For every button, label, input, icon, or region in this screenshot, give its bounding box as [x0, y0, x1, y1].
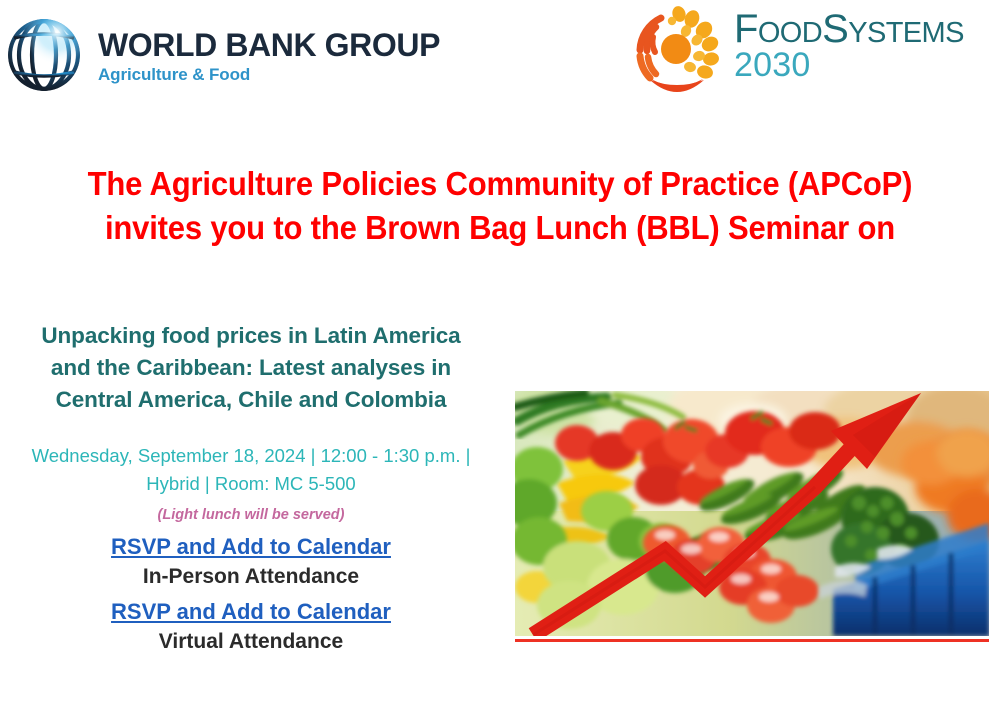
globe-icon — [4, 10, 88, 98]
food-systems-name: FOODSYSTEMS — [734, 7, 964, 51]
world-bank-subtitle: Agriculture & Food — [98, 66, 440, 83]
food-systems-wordmark: FOODSYSTEMS 2030 — [734, 4, 1000, 82]
headline: The Agriculture Policies Community of Pr… — [30, 162, 970, 250]
rsvp-block: RSVP and Add to Calendar In-Person Atten… — [8, 531, 494, 657]
rsvp-caption-virtual: Virtual Attendance — [8, 627, 494, 657]
sunburst-icon — [628, 4, 726, 100]
world-bank-group-logo: WORLD BANK GROUP Agriculture & Food — [4, 6, 414, 102]
lunch-note: (Light lunch will be served) — [8, 505, 494, 525]
seminar-title: Unpacking food prices in Latin America a… — [8, 320, 494, 416]
fs-name-ood: OOD — [758, 17, 822, 49]
seminar-datetime-location: Wednesday, September 18, 2024 | 12:00 - … — [8, 442, 494, 498]
world-bank-wordmark: WORLD BANK GROUP Agriculture & Food — [98, 25, 440, 83]
rsvp-link-in-person[interactable]: RSVP and Add to Calendar — [8, 531, 494, 562]
world-bank-title: WORLD BANK GROUP — [98, 29, 440, 61]
food-systems-2030-logo: FOODSYSTEMS 2030 — [628, 4, 1000, 104]
details-column: Unpacking food prices in Latin America a… — [8, 320, 494, 661]
headline-line-1: The Agriculture Policies Community of Pr… — [30, 162, 970, 206]
fs-name-f: F — [734, 7, 758, 51]
fs-name-s: S — [822, 7, 848, 51]
logo-band: WORLD BANK GROUP Agriculture & Food — [0, 0, 1000, 112]
food-systems-year: 2030 — [734, 46, 810, 84]
market-vegetables-with-rising-arrow-photo — [515, 391, 989, 642]
headline-line-2: invites you to the Brown Bag Lunch (BBL)… — [30, 206, 970, 250]
flyer-canvas: WORLD BANK GROUP Agriculture & Food — [0, 0, 1000, 727]
rsvp-caption-in-person: In-Person Attendance — [8, 562, 494, 592]
fs-name-ystems: YSTEMS — [848, 17, 964, 49]
rsvp-link-virtual[interactable]: RSVP and Add to Calendar — [8, 596, 494, 627]
